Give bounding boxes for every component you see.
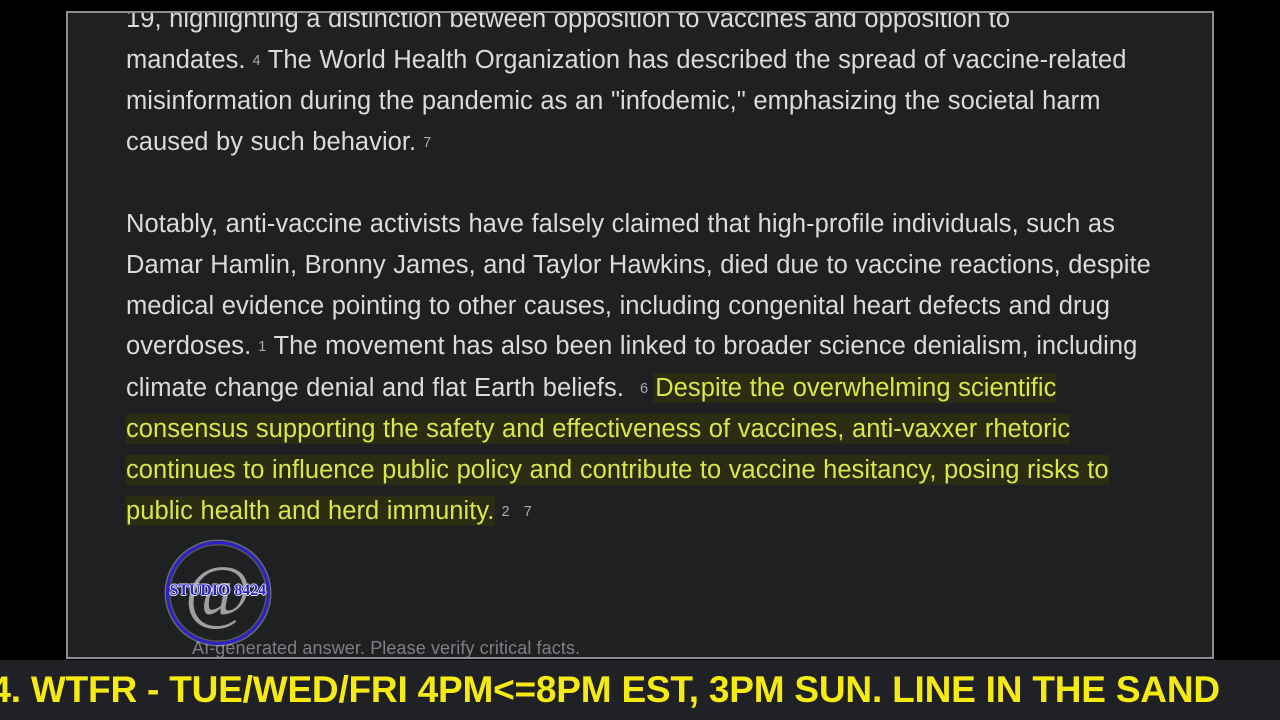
answer-paragraph-1: 19, highlighting a distinction between o… bbox=[126, 11, 1154, 163]
at-sign-icon: @ bbox=[166, 556, 270, 628]
answer-scroll-content: supporting the rights of those against C… bbox=[68, 11, 1212, 532]
citation-ref[interactable]: 6 bbox=[624, 381, 655, 397]
citation-ref[interactable]: 2 bbox=[494, 504, 516, 520]
citation-ref[interactable]: 1 bbox=[251, 339, 273, 355]
answer-panel[interactable]: supporting the rights of those against C… bbox=[66, 11, 1214, 659]
watermark-label: STUDIO 8424 bbox=[166, 583, 270, 599]
paragraph-text: The World Health Organization has descri… bbox=[126, 46, 1126, 156]
ticker-text: 24. WTFR - TUE/WED/FRI 4PM<=8PM EST, 3PM… bbox=[0, 670, 1260, 710]
answer-paragraph-2: Notably, anti-vaccine activists have fal… bbox=[126, 204, 1154, 532]
screen: supporting the rights of those against C… bbox=[0, 0, 1280, 720]
citation-ref[interactable]: 7 bbox=[416, 135, 438, 151]
citation-ref[interactable]: 7 bbox=[517, 504, 539, 520]
ai-disclaimer: AI-generated answer. Please verify criti… bbox=[192, 636, 580, 659]
citation-ref[interactable]: 4 bbox=[246, 53, 268, 69]
news-ticker-bar: 24. WTFR - TUE/WED/FRI 4PM<=8PM EST, 3PM… bbox=[0, 660, 1280, 720]
studio-watermark: @ STUDIO 8424 bbox=[166, 541, 270, 645]
watermark-ring-icon bbox=[166, 541, 270, 645]
